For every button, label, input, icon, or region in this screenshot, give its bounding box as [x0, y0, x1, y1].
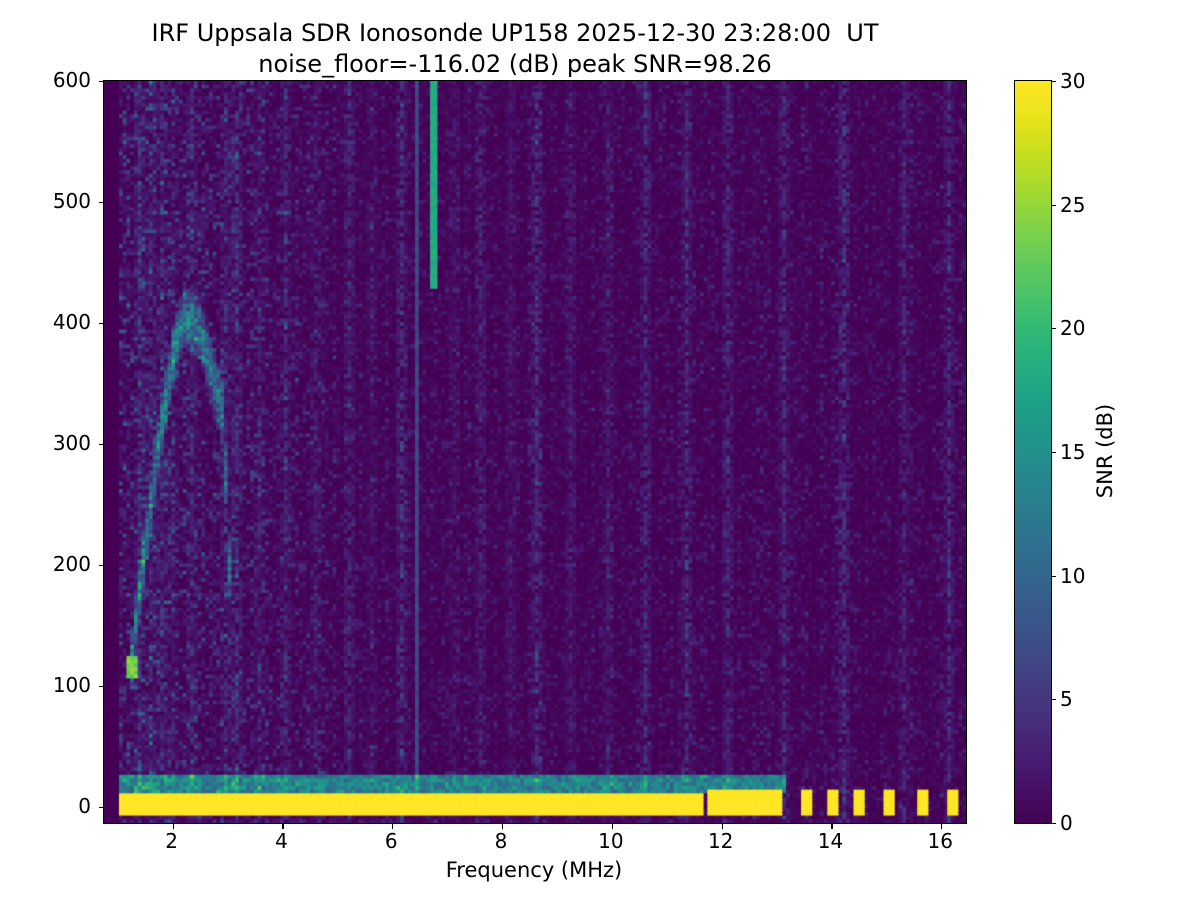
x-tick-label: 2 — [165, 829, 178, 853]
colorbar-tick-mark — [1051, 576, 1056, 577]
colorbar-tick-mark — [1051, 823, 1056, 824]
y-tick-label: 500 — [53, 189, 91, 213]
title-line-2: noise_floor=-116.02 (dB) peak SNR=98.26 — [0, 49, 1030, 80]
y-tick-label: 400 — [53, 310, 91, 334]
colorbar-tick-label: 15 — [1060, 440, 1085, 464]
colorbar-tick-mark — [1051, 81, 1056, 82]
figure-title: IRF Uppsala SDR Ionosonde UP158 2025-12-… — [0, 18, 1030, 80]
y-tick-mark — [99, 686, 104, 687]
colorbar-tick-mark — [1051, 699, 1056, 700]
colorbar: 051015202530 — [1014, 80, 1052, 824]
y-tick-mark — [99, 202, 104, 203]
x-tick-label: 6 — [385, 829, 398, 853]
y-tick-mark — [99, 444, 104, 445]
colorbar-tick-label: 10 — [1060, 564, 1085, 588]
x-tick-label: 12 — [708, 829, 733, 853]
y-tick-label: 200 — [53, 552, 91, 576]
colorbar-tick-label: 20 — [1060, 316, 1085, 340]
colorbar-tick-label: 5 — [1060, 687, 1073, 711]
ionogram-heatmap — [104, 81, 966, 823]
colorbar-tick-mark — [1051, 328, 1056, 329]
colorbar-tick-label: 25 — [1060, 193, 1085, 217]
plot-area — [103, 80, 967, 824]
y-tick-label: 300 — [53, 431, 91, 455]
x-tick-label: 8 — [495, 829, 508, 853]
colorbar-tick-label: 30 — [1060, 69, 1085, 93]
y-tick-mark — [99, 565, 104, 566]
colorbar-tick-label: 0 — [1060, 811, 1073, 835]
y-tick-mark — [99, 81, 104, 82]
x-tick-label: 4 — [275, 829, 288, 853]
colorbar-tick-mark — [1051, 452, 1056, 453]
x-tick-label: 10 — [598, 829, 623, 853]
x-axis-label: Frequency (MHz) — [446, 858, 622, 882]
colorbar-label: SNR (dB) — [1093, 404, 1117, 498]
ionogram-figure: IRF Uppsala SDR Ionosonde UP158 2025-12-… — [0, 0, 1200, 900]
colorbar-gradient — [1015, 81, 1051, 823]
y-tick-label: 0 — [78, 794, 91, 818]
y-tick-mark — [99, 807, 104, 808]
y-tick-label: 100 — [53, 673, 91, 697]
x-tick-label: 14 — [818, 829, 843, 853]
x-tick-label: 16 — [928, 829, 953, 853]
y-tick-label: 600 — [53, 68, 91, 92]
title-line-1: IRF Uppsala SDR Ionosonde UP158 2025-12-… — [0, 18, 1030, 49]
colorbar-tick-mark — [1051, 205, 1056, 206]
y-tick-mark — [99, 323, 104, 324]
